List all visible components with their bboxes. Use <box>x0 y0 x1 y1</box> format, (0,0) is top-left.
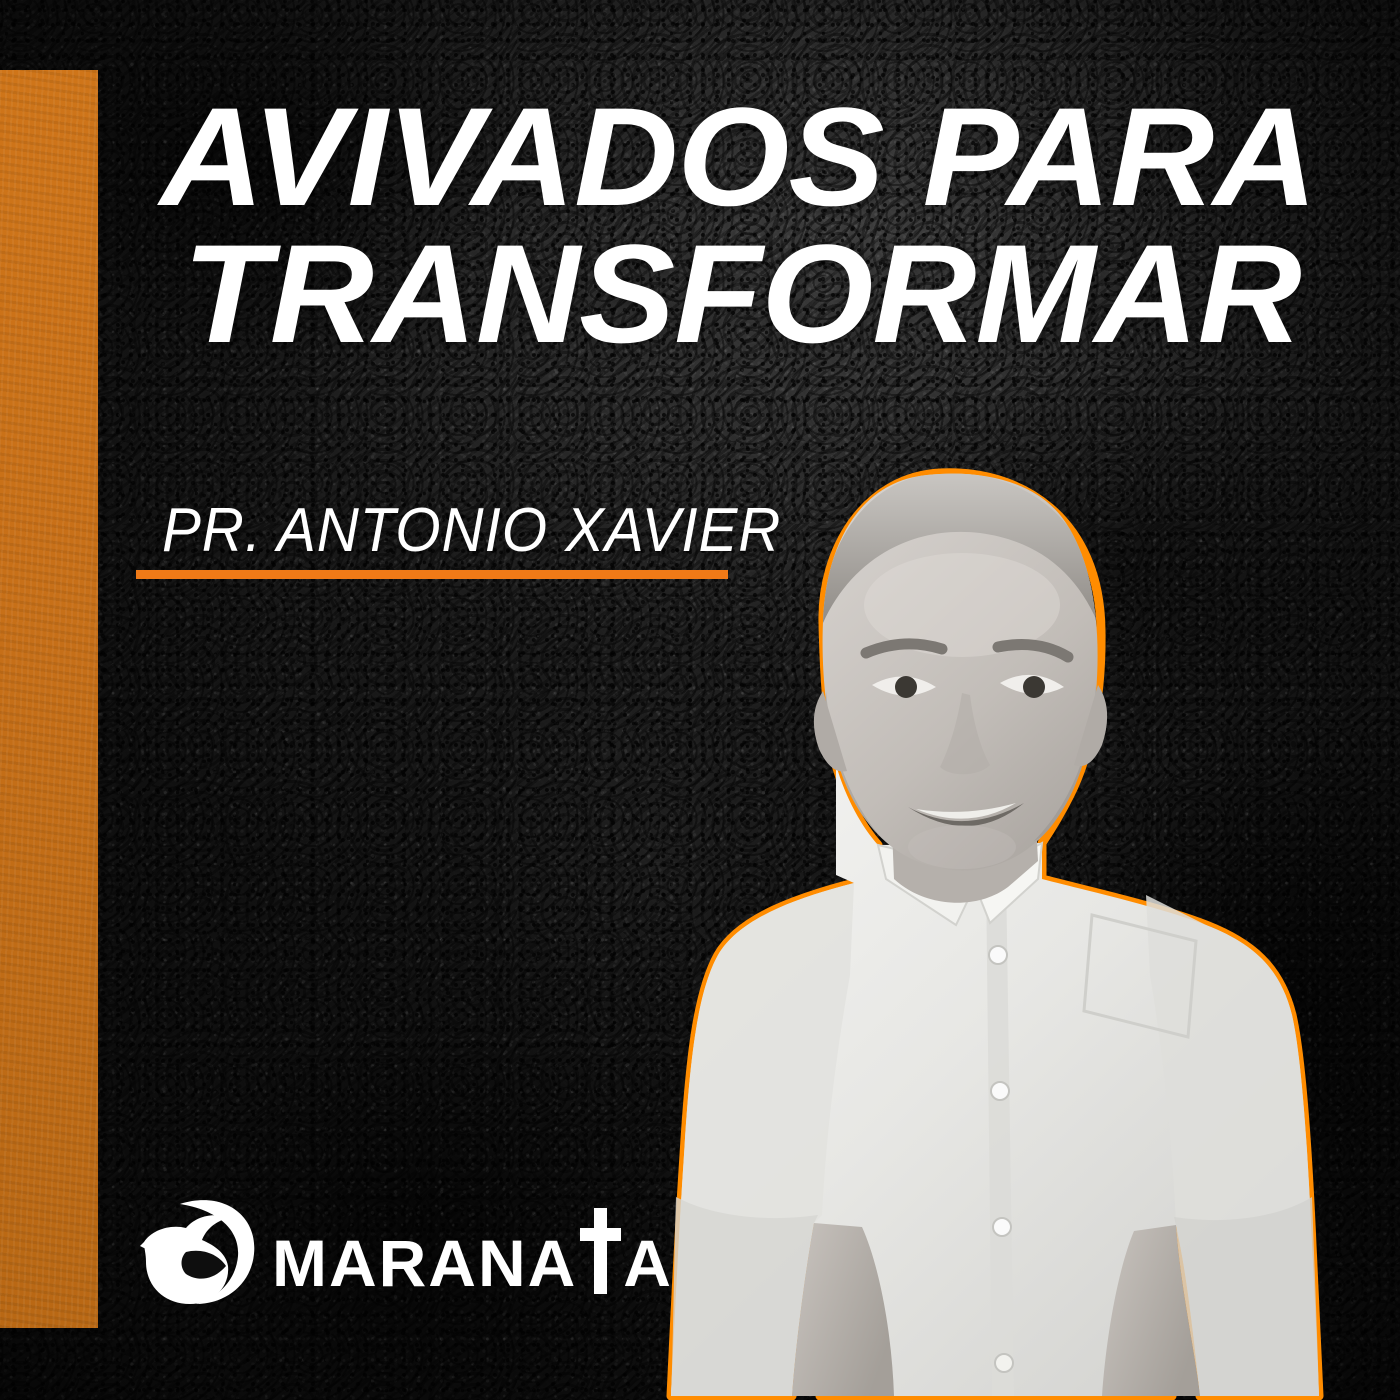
page-title: AVIVADOS PARA TRANSFORMAR <box>160 88 1355 362</box>
brand-name-part: A <box>623 1230 673 1296</box>
cross-icon <box>578 1208 622 1294</box>
speaker-name: PR. ANTONIO XAVIER <box>162 500 726 562</box>
dove-icon <box>140 1196 258 1308</box>
pupil-right <box>1023 676 1045 698</box>
speaker-block: PR. ANTONIO XAVIER <box>162 500 762 562</box>
podcast-cover-art: AVIVADOS PARA TRANSFORMAR PR. ANTONIO XA… <box>0 0 1400 1400</box>
shirt-button <box>995 1354 1013 1372</box>
brand-logo: MARANAA <box>140 1196 673 1308</box>
speaker-underline <box>136 570 728 579</box>
pupil-left <box>895 676 917 698</box>
portrait-image <box>640 455 1350 1400</box>
brand-name-part: MARANA <box>272 1230 577 1296</box>
title-line-2: TRANSFORMAR <box>183 225 1355 362</box>
brand-wordmark: MARANAA <box>272 1208 673 1296</box>
shirt-button <box>993 1218 1011 1236</box>
shirt-button <box>989 946 1007 964</box>
title-line-1: AVIVADOS PARA <box>160 78 1316 235</box>
shirt-button <box>991 1082 1009 1100</box>
orange-accent-bar <box>0 70 98 1328</box>
